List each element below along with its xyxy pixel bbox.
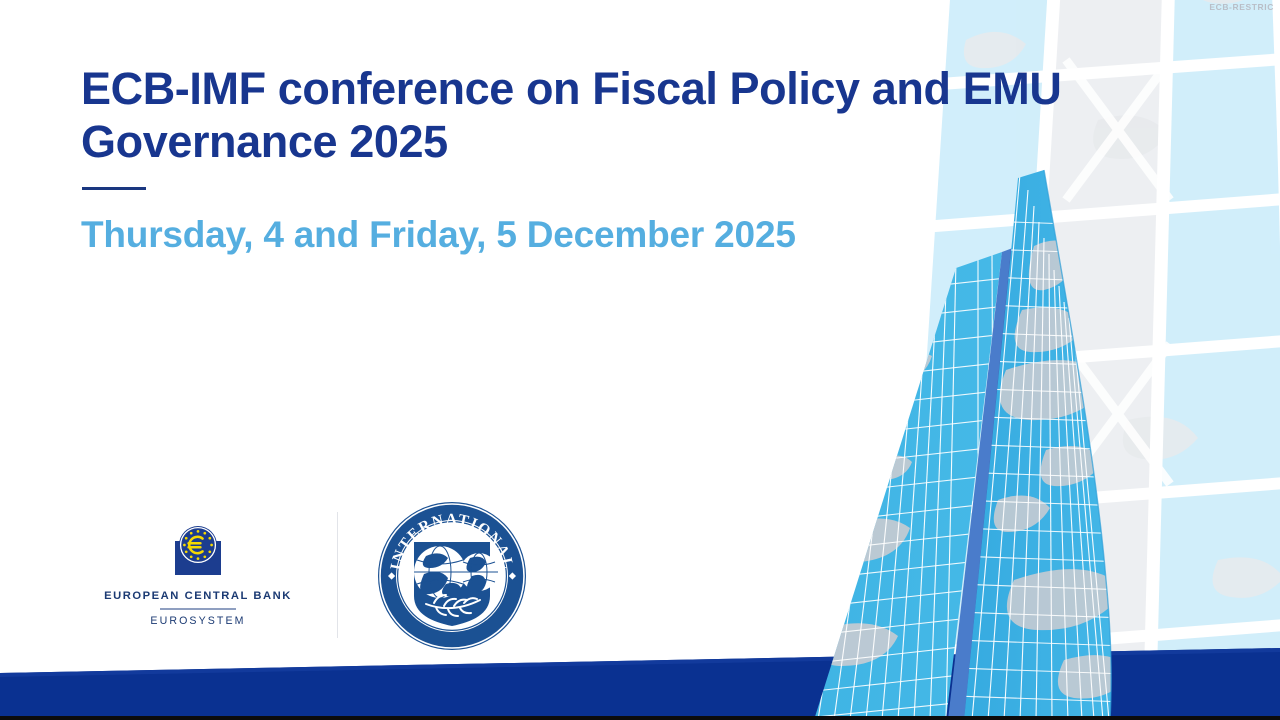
ecb-logo: EUROPEAN CENTRAL BANK EUROSYSTEM [82, 523, 314, 626]
logo-row: EUROPEAN CENTRAL BANK EUROSYSTEM INTERNA… [82, 498, 528, 652]
ecb-logo-title: EUROPEAN CENTRAL BANK [104, 590, 292, 602]
ecb-tower-icon [806, 160, 1280, 720]
classification-watermark: ECB-RESTRIC [1209, 2, 1274, 12]
ecb-tower-illustration [800, 160, 1280, 720]
imf-seal-globe-olive-icon: INTERNATIONAL MONETARY FUND [376, 500, 528, 652]
euro-symbol-stars-icon [167, 523, 229, 581]
ecb-logo-rule [160, 608, 236, 609]
logo-divider [337, 512, 338, 638]
bottom-black-bar [0, 716, 1280, 720]
slide-title: ECB-IMF conference on Fiscal Policy and … [81, 62, 1116, 168]
ecb-logo-subtitle: EUROSYSTEM [150, 615, 245, 627]
title-divider-rule [82, 187, 146, 190]
presentation-slide: ECB-RESTRIC [0, 0, 1280, 720]
